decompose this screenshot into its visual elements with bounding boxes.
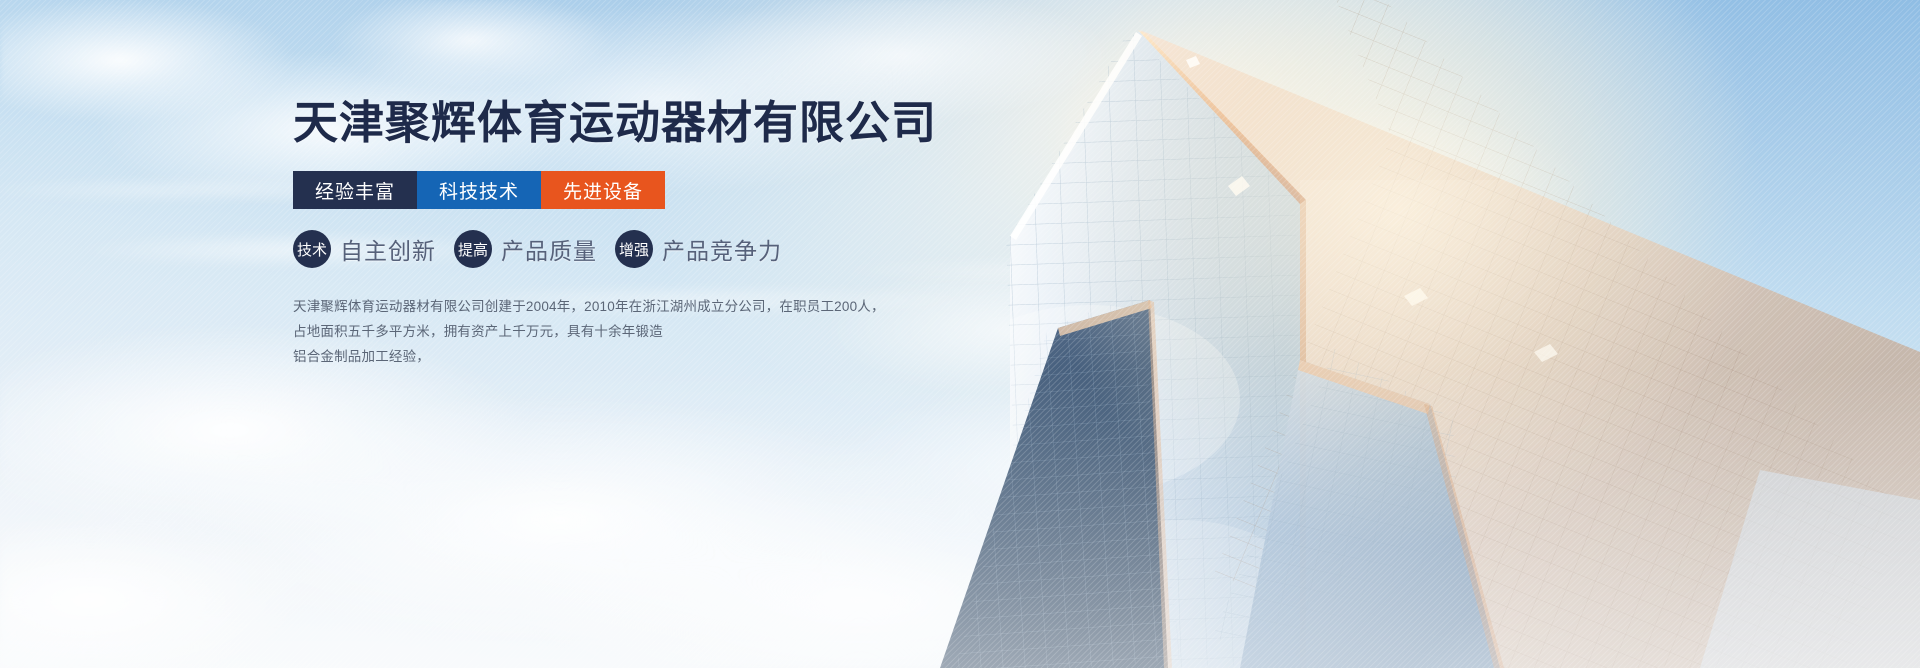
- badge-group-competitiveness: 增强 产品竞争力: [615, 230, 782, 268]
- company-description: 天津聚辉体育运动器材有限公司创建于2004年，2010年在浙江湖州成立分公司，在…: [293, 294, 933, 369]
- badge-group-innovation: 技术 自主创新: [293, 230, 436, 268]
- badge-group-quality: 提高 产品质量: [454, 230, 597, 268]
- badge-label-competitiveness: 产品竞争力: [662, 232, 782, 266]
- badge-label-innovation: 自主创新: [340, 232, 436, 266]
- badge-label-quality: 产品质量: [501, 232, 597, 266]
- description-line-1: 天津聚辉体育运动器材有限公司创建于2004年，2010年在浙江湖州成立分公司，在…: [293, 294, 933, 319]
- page-title: 天津聚辉体育运动器材有限公司: [293, 96, 933, 149]
- description-line-2: 占地面积五千多平方米，拥有资产上千万元，具有十余年锻造: [293, 319, 933, 344]
- skyscraper-photo: [0, 0, 1920, 668]
- tab-experience[interactable]: 经验丰富: [293, 171, 417, 209]
- badge-tag-improve[interactable]: 提高: [454, 230, 492, 268]
- highlight-badge-row: 技术 自主创新 提高 产品质量 增强 产品竞争力: [293, 230, 933, 268]
- badge-tag-enhance[interactable]: 增强: [615, 230, 653, 268]
- tab-technology[interactable]: 科技技术: [417, 171, 541, 209]
- badge-tag-technology[interactable]: 技术: [293, 230, 331, 268]
- description-line-3: 铝合金制品加工经验，: [293, 344, 933, 369]
- hero-banner: 天津聚辉体育运动器材有限公司 经验丰富 科技技术 先进设备 技术 自主创新 提高…: [0, 0, 1920, 668]
- feature-tab-row: 经验丰富 科技技术 先进设备: [293, 171, 933, 209]
- tab-equipment[interactable]: 先进设备: [541, 171, 665, 209]
- skyscraper-vector: [0, 0, 1920, 668]
- banner-content: 天津聚辉体育运动器材有限公司 经验丰富 科技技术 先进设备 技术 自主创新 提高…: [293, 96, 933, 369]
